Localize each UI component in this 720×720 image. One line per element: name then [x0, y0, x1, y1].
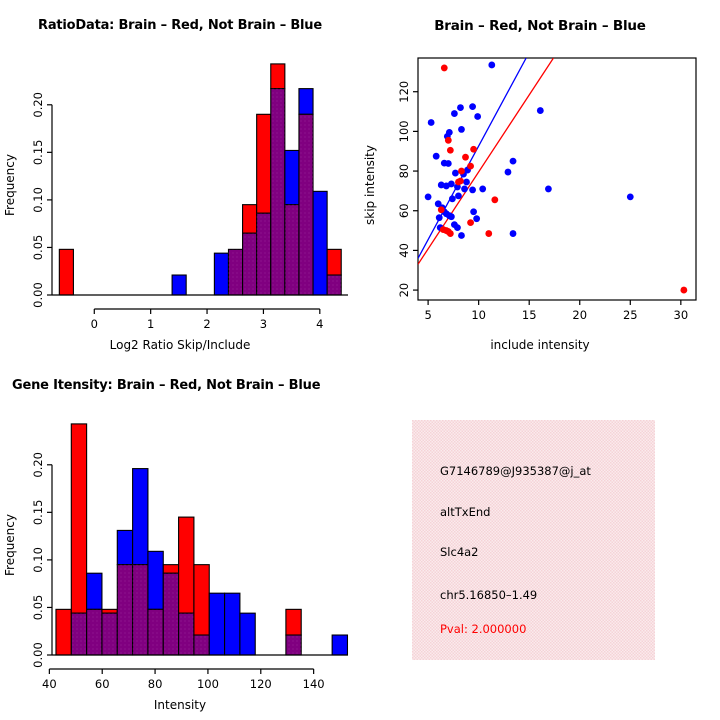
scatter-point — [445, 137, 452, 144]
histogram-bar-overlap-texture — [117, 565, 132, 655]
y-axis-tick-label: 80 — [397, 164, 411, 179]
histogram-bar-overlap-texture — [243, 233, 257, 295]
scatter-data-points — [425, 62, 688, 294]
histogram-bar-overlap-texture — [163, 573, 178, 655]
scatter-point — [485, 230, 492, 237]
scatter-point — [458, 232, 465, 239]
panel-ratio-histogram: RatioData: Brain – Red, Not Brain – Blue… — [0, 0, 360, 360]
probe-info-box: G7146789@J935387@j_at altTxEnd Slc4a2 ch… — [412, 420, 655, 660]
histogram-bar — [332, 635, 347, 655]
histogram-bar-overlap-texture — [257, 213, 271, 295]
histogram-bar — [257, 114, 271, 213]
x-axis-tick-label: 100 — [197, 677, 219, 691]
scatter-point — [470, 208, 477, 215]
scatter-point — [449, 195, 456, 202]
scatter-point — [433, 153, 440, 160]
histogram-bar — [299, 89, 313, 115]
x-axis-tick-label: 30 — [674, 308, 689, 322]
x-axis-tick-label: 0 — [91, 317, 98, 331]
y-axis-tick-label: 120 — [397, 81, 411, 103]
probe-id-text: G7146789@J935387@j_at — [440, 464, 591, 478]
histogram-bar — [148, 551, 163, 609]
histogram-bar — [327, 249, 341, 275]
scatter-point — [467, 219, 474, 226]
ratio-histogram-xlabel: Log2 Ratio Skip/Include — [110, 338, 251, 352]
histogram-bar-overlap-texture — [133, 565, 148, 655]
histogram-bar — [240, 613, 255, 655]
histogram-bar — [71, 424, 86, 613]
scatter-xlabel: include intensity — [490, 338, 589, 352]
scatter-point — [470, 146, 477, 153]
histogram-bar-overlap-texture — [286, 635, 301, 655]
scatter-point — [463, 179, 470, 186]
scatter-point — [438, 206, 445, 213]
scatter-point — [474, 113, 481, 120]
ratio-histogram-ylabel: Frequency — [3, 154, 17, 216]
x-axis-tick-label: 60 — [95, 677, 110, 691]
histogram-bar-overlap-texture — [228, 249, 242, 295]
scatter-point — [428, 119, 435, 126]
histogram-bar — [179, 517, 194, 613]
x-axis-tick-label: 10 — [471, 308, 486, 322]
histogram-bar-overlap-texture — [71, 613, 86, 655]
scatter-point — [452, 170, 459, 177]
gene-histogram-xlabel: Intensity — [154, 698, 206, 712]
panel-intensity-scatter: Brain – Red, Not Brain – Blue 5101520253… — [360, 0, 720, 360]
scatter-point — [473, 215, 480, 222]
scatter-point — [445, 160, 452, 167]
y-axis-tick-label: 0.05 — [31, 235, 45, 261]
intensity-scatter-svg: 5101520253020406080100120 include intens… — [360, 0, 720, 360]
scatter-point — [469, 103, 476, 110]
y-axis-tick-label: 0.20 — [31, 92, 45, 118]
scatter-point — [425, 193, 432, 200]
pval-text: Pval: 2.000000 — [440, 622, 526, 636]
histogram-bar — [133, 469, 148, 565]
scatter-point — [448, 213, 455, 220]
panel-gene-intensity-histogram: Gene Itensity: Brain – Red, Not Brain – … — [0, 360, 360, 720]
x-axis-tick-label: 3 — [260, 317, 267, 331]
scatter-point — [537, 107, 544, 114]
x-axis-tick-label: 80 — [148, 677, 163, 691]
scatter-point — [462, 154, 469, 161]
x-axis-tick-label: 4 — [316, 317, 323, 331]
histogram-bar — [271, 64, 285, 89]
y-axis-tick-label: 0.15 — [31, 500, 45, 526]
scatter-point — [451, 110, 458, 117]
plot-page: RatioData: Brain – Red, Not Brain – Blue… — [0, 0, 720, 720]
histogram-bar-overlap-texture — [179, 613, 194, 655]
x-axis-tick-label: 40 — [42, 677, 57, 691]
scatter-point — [488, 62, 495, 69]
event-type-text: altTxEnd — [440, 505, 490, 519]
gene-histogram-bars — [56, 424, 348, 655]
scatter-point — [510, 230, 517, 237]
histogram-bar — [286, 609, 301, 635]
ratio-histogram-bars — [59, 64, 341, 295]
x-axis-tick-label: 120 — [250, 677, 272, 691]
histogram-bar — [172, 275, 186, 295]
scatter-point — [441, 65, 448, 72]
scatter-point — [505, 169, 512, 176]
histogram-bar — [163, 565, 178, 574]
histogram-bar-overlap-texture — [194, 635, 209, 655]
scatter-point — [680, 287, 687, 294]
ratio-histogram-svg: 0.000.050.100.150.2001234 Log2 Ratio Ski… — [0, 0, 360, 360]
histogram-bar — [59, 249, 73, 295]
scatter-point — [479, 186, 486, 193]
x-axis-tick-label: 1 — [147, 317, 154, 331]
scatter-point — [458, 168, 465, 175]
scatter-point — [455, 179, 462, 186]
y-axis-tick-label: 0.20 — [31, 452, 45, 478]
scatter-point — [627, 193, 634, 200]
histogram-bar-overlap-texture — [87, 609, 102, 655]
y-axis-tick-label: 100 — [397, 120, 411, 142]
scatter-point — [436, 214, 443, 221]
y-axis-tick-label: 0.00 — [31, 282, 45, 308]
y-axis-tick-label: 0.15 — [31, 140, 45, 166]
scatter-point — [447, 230, 454, 237]
x-axis-tick-label: 140 — [303, 677, 325, 691]
histogram-bar-overlap-texture — [327, 275, 341, 295]
histogram-bar — [117, 530, 132, 564]
gene-histogram-svg: 0.000.050.100.150.20406080100120140 Inte… — [0, 360, 360, 720]
scatter-point — [447, 147, 454, 154]
histogram-bar — [225, 593, 240, 655]
histogram-bar-overlap-texture — [148, 609, 163, 655]
scatter-ylabel: skip intensity — [363, 145, 377, 225]
histogram-bar — [214, 253, 228, 295]
y-axis-tick-label: 60 — [397, 203, 411, 218]
histogram-bar-overlap-texture — [299, 114, 313, 295]
x-axis-tick-label: 20 — [572, 308, 587, 322]
x-axis-tick-label: 5 — [424, 308, 431, 322]
scatter-point — [454, 224, 461, 231]
histogram-bar — [102, 609, 117, 613]
scatter-point — [491, 196, 498, 203]
y-axis-tick-label: 0.10 — [31, 547, 45, 573]
gene-symbol-text: Slc4a2 — [440, 545, 479, 559]
y-axis-tick-label: 40 — [397, 243, 411, 258]
histogram-bar — [313, 191, 327, 295]
histogram-bar — [56, 609, 71, 655]
histogram-bar-overlap-texture — [285, 205, 299, 295]
histogram-bar — [87, 573, 102, 609]
scatter-point — [469, 187, 476, 194]
scatter-point — [448, 181, 455, 188]
x-axis-tick-label: 15 — [522, 308, 537, 322]
scatter-point — [510, 158, 517, 165]
y-axis-tick-label: 20 — [397, 283, 411, 298]
scatter-point — [545, 186, 552, 193]
histogram-bar-overlap-texture — [102, 613, 117, 655]
scatter-axes: 5101520253020406080100120 — [397, 81, 688, 322]
histogram-bar — [194, 565, 209, 635]
scatter-point — [461, 186, 468, 193]
histogram-bar — [285, 150, 299, 204]
y-axis-tick-label: 0.00 — [31, 642, 45, 668]
y-axis-tick-label: 0.05 — [31, 595, 45, 621]
locus-text: chr5.16850–1.49 — [440, 588, 537, 602]
histogram-bar — [243, 205, 257, 234]
panel-probe-info: G7146789@J935387@j_at altTxEnd Slc4a2 ch… — [360, 360, 720, 720]
scatter-point — [455, 192, 462, 199]
scatter-point — [467, 163, 474, 170]
scatter-point — [457, 104, 464, 111]
x-axis-tick-label: 2 — [203, 317, 210, 331]
y-axis-tick-label: 0.10 — [31, 187, 45, 213]
histogram-bar — [209, 593, 224, 655]
scatter-point — [458, 126, 465, 133]
histogram-bar-overlap-texture — [271, 89, 285, 295]
gene-histogram-ylabel: Frequency — [3, 514, 17, 576]
x-axis-tick-label: 25 — [623, 308, 638, 322]
